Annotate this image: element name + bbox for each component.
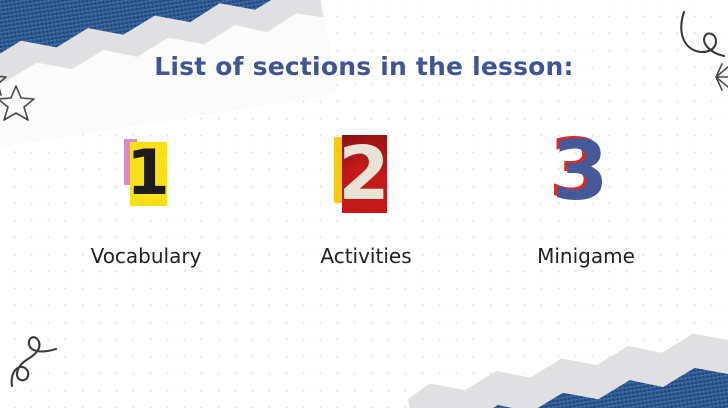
- section-item-activities[interactable]: 2 Activities: [256, 128, 472, 268]
- section-label-activities: Activities: [320, 244, 411, 268]
- section-label-vocabulary: Vocabulary: [91, 244, 202, 268]
- swirl-doodle-bottom-left: [8, 330, 78, 390]
- section-number-graphic-1: 1: [40, 128, 256, 220]
- lesson-sections-slide: List of sections in the lesson: 1 Vocabu…: [0, 0, 728, 408]
- section-item-vocabulary[interactable]: 1 Vocabulary: [40, 128, 256, 268]
- section-number-3: 3: [550, 134, 610, 210]
- denim-torn-corner-bottom-right: [396, 256, 728, 408]
- section-number-1: 1: [130, 142, 167, 206]
- sections-list: 1 Vocabulary 2 Activities 3 3: [40, 128, 688, 268]
- page-title: List of sections in the lesson:: [0, 52, 728, 81]
- section-number-2: 2: [342, 135, 387, 213]
- section-number-graphic-2: 2: [256, 128, 472, 220]
- section-label-minigame: Minigame: [537, 244, 635, 268]
- section-item-minigame[interactable]: 3 3 Minigame: [472, 128, 688, 268]
- section-number-graphic-3: 3 3: [472, 128, 688, 220]
